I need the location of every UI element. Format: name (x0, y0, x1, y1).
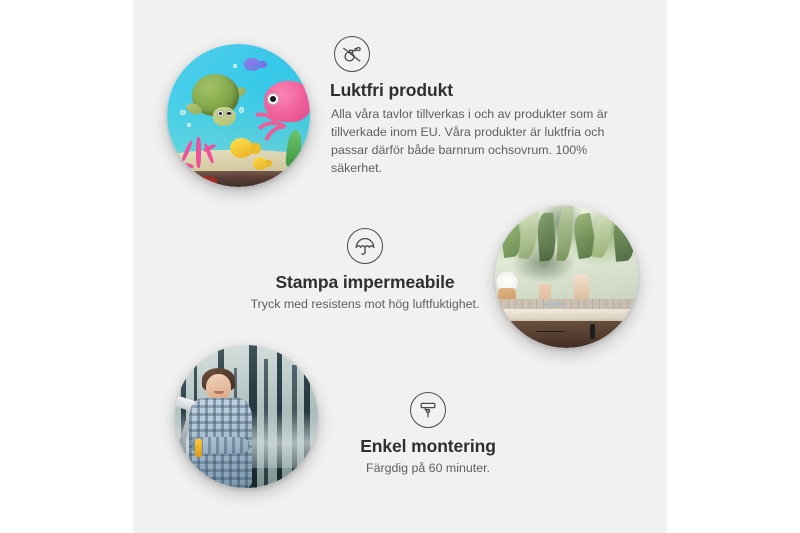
paint-roller-icon (410, 392, 446, 428)
leaf-shape (536, 212, 556, 261)
sea-turtle-icon (187, 74, 250, 131)
leaf-shape (592, 207, 615, 259)
coral-branch (179, 161, 194, 168)
bubble-icon (180, 110, 186, 116)
coral-branch (196, 137, 201, 168)
feature-description: Tryck med resistens mot hög luftfuktighe… (200, 296, 530, 314)
no-fragrance-spray-icon (334, 36, 370, 72)
underwater-cartoon-disc (167, 44, 310, 187)
feature-title: Enkel montering (298, 436, 558, 457)
feature-easy-assembly: Enkel montering Färgdig på 60 minuter. (298, 392, 558, 478)
content-panel: Luktfri produkt Alla våra tavlor tillver… (133, 0, 667, 533)
feature-waterproof-print: Stampa impermeabile Tryck med resistens … (200, 228, 530, 314)
product-feature-banner: Luktfri produkt Alla våra tavlor tillver… (0, 0, 800, 533)
yellow-fish-icon (253, 157, 267, 170)
painter-forest-disc (175, 345, 318, 488)
feature-odour-free: Luktfri produkt Alla våra tavlor tillver… (331, 36, 631, 178)
underwater-cartoon-image (167, 44, 310, 187)
coral-branch (181, 141, 194, 163)
paint-roller-grip (195, 439, 202, 456)
turtle-head (213, 107, 236, 126)
coral-icon (178, 128, 221, 168)
leaf-shape (556, 206, 573, 262)
turtle-eye (226, 110, 233, 116)
umbrella-icon (347, 228, 383, 264)
painter-forest-image (175, 345, 318, 488)
wooden-vanity (504, 321, 638, 348)
person-head (206, 374, 230, 401)
vanity-door-handle (590, 324, 595, 339)
feature-description: Alla våra tavlor tillverkas i och av pro… (331, 106, 623, 178)
faucet (544, 302, 564, 306)
turtle-eye (217, 110, 224, 116)
octopus-head (264, 81, 310, 122)
leaf-shape (612, 214, 636, 262)
feature-title: Luktfri produkt (330, 80, 631, 101)
shipwreck-strip (167, 171, 310, 187)
vanity-drawer-handle (536, 331, 566, 332)
feature-title: Stampa impermeabile (200, 272, 530, 293)
octopus-eye (267, 93, 279, 105)
feature-description: Färgdig på 60 minuter. (298, 460, 558, 478)
